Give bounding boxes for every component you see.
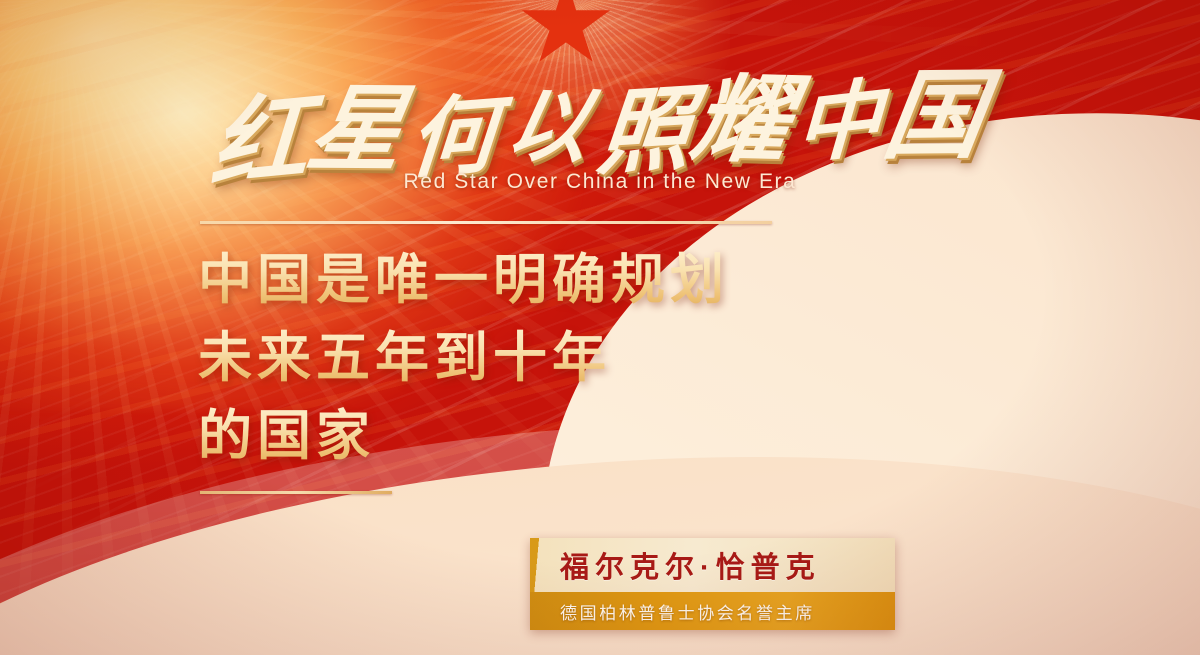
poster-banner: 红 星 何 以 照 耀 中 国 Red Star Over China in t…	[0, 0, 1200, 655]
speaker-title-bar: 德国柏林普鲁士协会名誉主席	[530, 592, 895, 630]
speaker-title: 德国柏林普鲁士协会名誉主席	[560, 599, 815, 624]
calligraphy-char: 中	[794, 49, 889, 181]
calligraphy-char: 以	[499, 59, 606, 179]
calligraphy-char: 耀	[683, 41, 808, 182]
quote-line: 的国家	[198, 396, 838, 474]
quote-rule-bottom	[200, 491, 392, 494]
quote-block: 中国是唯一明确规划 未来五年到十年 的国家	[198, 240, 838, 474]
english-subtitle: Red Star Over China in the New Era	[255, 170, 945, 194]
calligraphy-char: 星	[300, 53, 420, 189]
quote-line: 中国是唯一明确规划	[198, 240, 838, 318]
speaker-name-bar: 福尔克尔·恰普克	[530, 538, 895, 592]
calligraphy-char: 国	[876, 36, 999, 178]
speaker-nameplate: 福尔克尔·恰普克 德国柏林普鲁士协会名誉主席	[530, 538, 895, 630]
title-block: 红 星 何 以 照 耀 中 国 Red Star Over China in t…	[255, 52, 945, 187]
quote-rule-top	[200, 221, 772, 224]
quote-line: 未来五年到十年	[198, 318, 838, 396]
speaker-name: 福尔克尔·恰普克	[560, 544, 821, 586]
